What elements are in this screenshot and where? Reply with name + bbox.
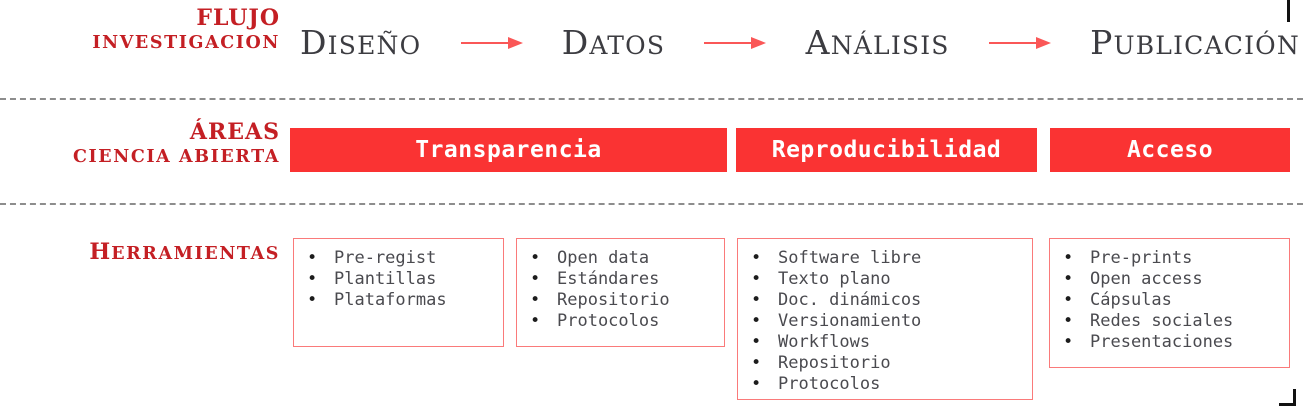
flow-step-diseno: DISEÑO — [300, 26, 421, 60]
bullet-icon: • — [530, 290, 540, 311]
list-item-label: Protocolos — [557, 311, 659, 331]
flow-step-publicacion: PUBLICACIÓN — [1090, 26, 1300, 60]
row-separator-2 — [0, 203, 1303, 205]
research-flow-row: DISEÑO DATOS ANÁLISIS PUBLICACIÓN — [300, 14, 1300, 72]
bullet-icon: • — [1063, 248, 1073, 269]
flow-step-publicacion-cap: P — [1090, 23, 1113, 62]
arrow-shaft — [461, 42, 509, 44]
list-item: •Open access — [1060, 269, 1281, 290]
list-item-label: Open access — [1090, 269, 1203, 289]
row-label-herramientas-rest: ERRAMIENTAS — [111, 244, 280, 264]
list-item: •Texto plano — [748, 269, 1024, 290]
list-item: •Software libre — [748, 248, 1024, 269]
arrow-head — [508, 37, 523, 49]
bullet-icon: • — [1063, 311, 1073, 332]
list-item-label: Cápsulas — [1090, 290, 1172, 310]
area-banner-reproducibilidad: Reproducibilidad — [736, 128, 1037, 172]
tools-box-analisis: •Software libre •Texto plano •Doc. dinám… — [737, 238, 1033, 400]
arrow-head — [1036, 37, 1051, 49]
list-item-label: Pre-regist — [334, 248, 436, 268]
flow-step-diseno-rest: ISEÑO — [328, 31, 422, 60]
bullet-icon: • — [530, 248, 540, 269]
area-banner-acceso: Acceso — [1050, 128, 1290, 172]
list-item-label: Versionamiento — [778, 311, 921, 331]
bullet-icon: • — [751, 248, 761, 269]
list-item: •Versionamiento — [748, 311, 1024, 332]
list-item: •Plataformas — [304, 290, 495, 311]
area-banner-reproducibilidad-label: Reproducibilidad — [772, 137, 1002, 163]
bullet-icon: • — [1063, 290, 1073, 311]
list-item-label: Estándares — [557, 269, 659, 289]
list-item-label: Pre-prints — [1090, 248, 1192, 268]
bullet-icon: • — [751, 269, 761, 290]
row-label-flujo-investigacion: FLUJO INVESTIGACION — [10, 4, 280, 55]
list-item: •Open data — [527, 248, 716, 269]
list-item-label: Texto plano — [778, 269, 891, 289]
bullet-icon: • — [1063, 332, 1073, 353]
list-item-label: Plantillas — [334, 269, 436, 289]
list-item-label: Presentaciones — [1090, 332, 1233, 352]
list-item-label: Plataformas — [334, 290, 447, 310]
list-item: •Estándares — [527, 269, 716, 290]
bullet-icon: • — [751, 353, 761, 374]
row-label-areas-ciencia-abierta: ÁREAS CIENCIA ABIERTA — [10, 118, 280, 169]
arrow-shaft — [704, 42, 752, 44]
row-label-areas-line2: CIENCIA ABIERTA — [73, 147, 280, 167]
list-item-label: Redes sociales — [1090, 311, 1233, 331]
flow-step-datos: DATOS — [562, 26, 665, 60]
list-item: •Protocolos — [527, 311, 716, 332]
infographic-canvas: FLUJO INVESTIGACION DISEÑO DATOS ANÁLISI… — [0, 0, 1303, 418]
list-item: •Redes sociales — [1060, 311, 1281, 332]
arrow-right-icon — [989, 36, 1051, 50]
bullet-icon: • — [530, 269, 540, 290]
tools-box-datos: •Open data •Estándares •Repositorio •Pro… — [516, 238, 725, 347]
bullet-icon: • — [307, 248, 317, 269]
list-item-label: Doc. dinámicos — [778, 290, 921, 310]
tools-box-acceso: •Pre-prints •Open access •Cápsulas •Rede… — [1049, 238, 1290, 368]
bullet-icon: • — [751, 290, 761, 311]
tools-list-datos: •Open data •Estándares •Repositorio •Pro… — [527, 248, 716, 332]
list-item-label: Repositorio — [778, 353, 891, 373]
list-item-label: Protocolos — [778, 374, 880, 394]
flow-step-diseno-cap: D — [300, 23, 328, 62]
flow-step-datos-cap: D — [562, 23, 590, 62]
flow-step-publicacion-rest: UBLICACIÓN — [1113, 31, 1299, 60]
bullet-icon: • — [1063, 269, 1073, 290]
row-separator-1 — [0, 98, 1303, 100]
row-label-herramientas-cap: H — [89, 239, 111, 265]
bullet-icon: • — [751, 374, 761, 395]
tools-box-transparencia: •Pre-regist •Plantillas •Plataformas — [293, 238, 504, 347]
list-item: •Protocolos — [748, 374, 1024, 395]
list-item-label: Open data — [557, 248, 649, 268]
list-item: •Pre-prints — [1060, 248, 1281, 269]
row-label-flujo-line2: INVESTIGACION — [92, 33, 280, 53]
row-label-flujo-line1: FLUJO — [196, 5, 280, 31]
list-item: •Workflows — [748, 332, 1024, 353]
arrow-shaft — [989, 42, 1037, 44]
list-item: •Repositorio — [527, 290, 716, 311]
tools-list-acceso: •Pre-prints •Open access •Cápsulas •Rede… — [1060, 248, 1281, 353]
list-item: •Plantillas — [304, 269, 495, 290]
crop-mark-bottom-right-icon — [1279, 389, 1296, 406]
area-banner-transparencia-label: Transparencia — [415, 137, 602, 163]
flow-step-analisis: ANÁLISIS — [806, 26, 950, 60]
arrow-head — [751, 37, 766, 49]
row-label-herramientas: HERRAMIENTAS — [10, 238, 280, 266]
arrow-right-icon — [461, 36, 523, 50]
arrow-right-icon — [704, 36, 766, 50]
bullet-icon: • — [530, 311, 540, 332]
flow-step-datos-rest: ATOS — [589, 31, 665, 60]
area-banner-transparencia: Transparencia — [290, 128, 727, 172]
area-banner-acceso-label: Acceso — [1127, 137, 1213, 163]
bullet-icon: • — [307, 290, 317, 311]
list-item: •Doc. dinámicos — [748, 290, 1024, 311]
list-item: •Pre-regist — [304, 248, 495, 269]
list-item: •Presentaciones — [1060, 332, 1281, 353]
list-item-label: Software libre — [778, 248, 921, 268]
row-label-areas-line1: ÁREAS — [190, 119, 280, 145]
flow-step-analisis-cap: A — [806, 23, 831, 62]
flow-step-analisis-rest: NÁLISIS — [831, 31, 950, 60]
bullet-icon: • — [307, 269, 317, 290]
list-item-label: Workflows — [778, 332, 870, 352]
list-item-label: Repositorio — [557, 290, 670, 310]
tools-list-transparencia: •Pre-regist •Plantillas •Plataformas — [304, 248, 495, 311]
bullet-icon: • — [751, 311, 761, 332]
tools-list-analisis: •Software libre •Texto plano •Doc. dinám… — [748, 248, 1024, 395]
bullet-icon: • — [751, 332, 761, 353]
list-item: •Repositorio — [748, 353, 1024, 374]
list-item: •Cápsulas — [1060, 290, 1281, 311]
